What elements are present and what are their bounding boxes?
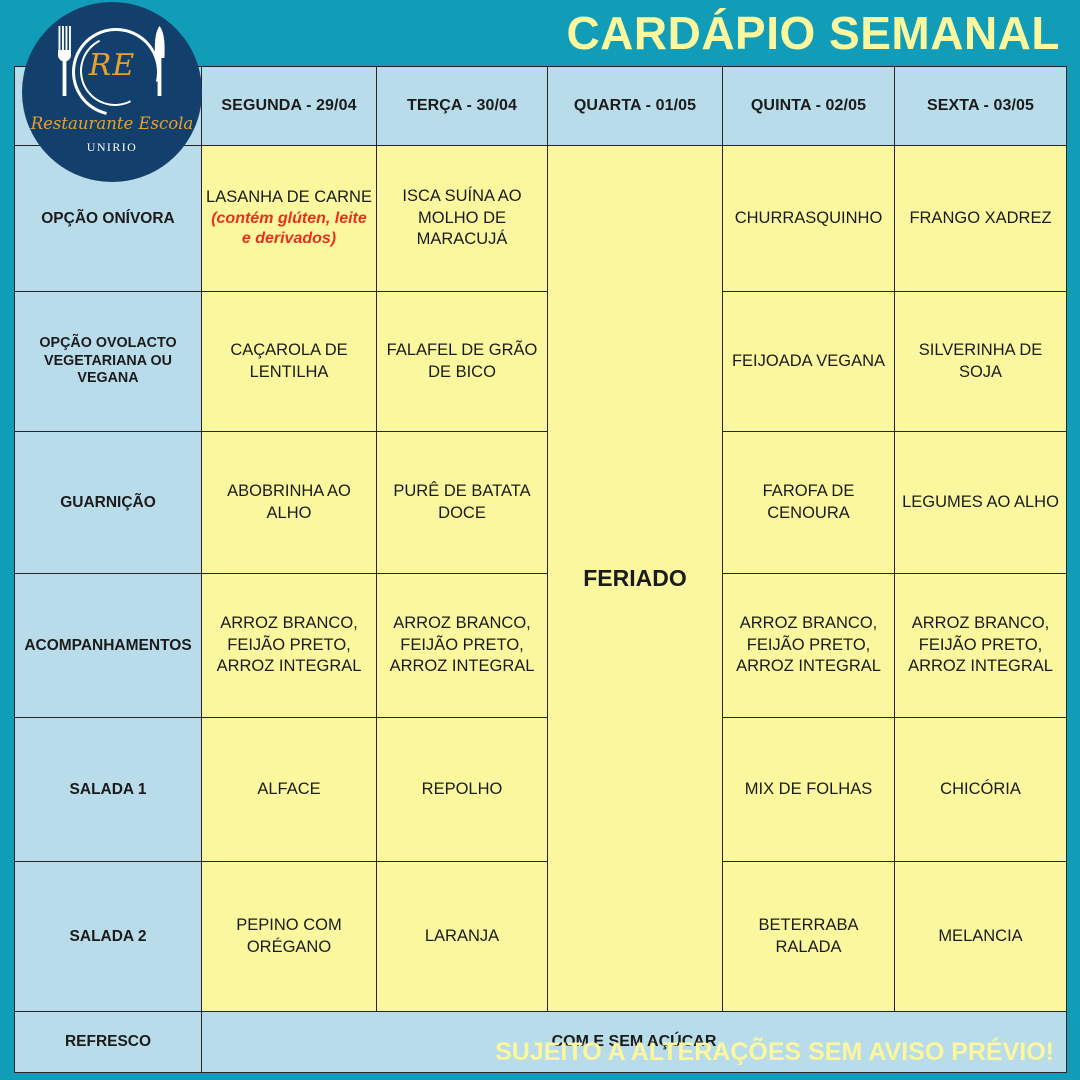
table-row: OPÇÃO ONÍVORA LASANHA DE CARNE (contém g… xyxy=(15,146,1067,292)
day-header-quinta: QUINTA - 02/05 xyxy=(723,67,895,146)
cell-salada2-terca: LARANJA xyxy=(377,862,548,1012)
cell-onivora-quinta: CHURRASQUINHO xyxy=(723,146,895,292)
cell-salada2-segunda: PEPINO COM ORÉGANO xyxy=(202,862,377,1012)
cell-salada2-quinta: BETERRABA RALADA xyxy=(723,862,895,1012)
cell-holiday-quarta: FERIADO xyxy=(548,146,723,1012)
footer-notice: SUJEITO A ALTERAÇÕES SEM AVISO PRÉVIO! xyxy=(0,1032,1080,1072)
cell-salada1-segunda: ALFACE xyxy=(202,718,377,862)
cell-vegetariana-sexta: SILVERINHA DE SOJA xyxy=(895,292,1067,432)
cell-vegetariana-terca: FALAFEL DE GRÃO DE BICO xyxy=(377,292,548,432)
day-header-sexta: SEXTA - 03/05 xyxy=(895,67,1067,146)
cell-salada1-sexta: CHICÓRIA xyxy=(895,718,1067,862)
row-label-salada-1: SALADA 1 xyxy=(15,718,202,862)
cell-guarnicao-quinta: FAROFA DE CENOURA xyxy=(723,432,895,574)
row-label-acompanhamentos: ACOMPANHAMENTOS xyxy=(15,574,202,718)
logo-institution: UNIRIO xyxy=(22,140,202,155)
page-title: CARDÁPIO SEMANAL xyxy=(460,2,1060,64)
logo-monogram: RE xyxy=(22,48,202,83)
cell-onivora-segunda: LASANHA DE CARNE (contém glúten, leite e… xyxy=(202,146,377,292)
allergen-warning: (contém glúten, leite e derivados) xyxy=(206,209,372,251)
row-label-salada-2: SALADA 2 xyxy=(15,862,202,1012)
cell-onivora-segunda-main: LASANHA DE CARNE xyxy=(206,188,372,206)
cell-salada1-quinta: MIX DE FOLHAS xyxy=(723,718,895,862)
day-header-terca: TERÇA - 30/04 xyxy=(377,67,548,146)
table-row: SALADA 1 ALFACE REPOLHO MIX DE FOLHAS CH… xyxy=(15,718,1067,862)
day-header-quarta: QUARTA - 01/05 xyxy=(548,67,723,146)
cell-onivora-terca: ISCA SUÍNA AO MOLHO DE MARACUJÁ xyxy=(377,146,548,292)
restaurante-escola-logo: RE Restaurante Escola UNIRIO xyxy=(22,2,202,182)
row-label-guarnicao: GUARNIÇÃO xyxy=(15,432,202,574)
weekly-menu-table: SEGUNDA - 29/04 TERÇA - 30/04 QUARTA - 0… xyxy=(14,66,1067,1073)
cell-acompanhamentos-terca: ARROZ BRANCO, FEIJÃO PRETO, ARROZ INTEGR… xyxy=(377,574,548,718)
cell-guarnicao-terca: PURÊ DE BATATA DOCE xyxy=(377,432,548,574)
table-row: GUARNIÇÃO ABOBRINHA AO ALHO PURÊ DE BATA… xyxy=(15,432,1067,574)
cell-acompanhamentos-segunda: ARROZ BRANCO, FEIJÃO PRETO, ARROZ INTEGR… xyxy=(202,574,377,718)
cell-vegetariana-segunda: CAÇAROLA DE LENTILHA xyxy=(202,292,377,432)
table-row: SALADA 2 PEPINO COM ORÉGANO LARANJA BETE… xyxy=(15,862,1067,1012)
cell-onivora-sexta: FRANGO XADREZ xyxy=(895,146,1067,292)
table-row: OPÇÃO OVOLACTO VEGETARIANA OU VEGANA CAÇ… xyxy=(15,292,1067,432)
cell-acompanhamentos-sexta: ARROZ BRANCO, FEIJÃO PRETO, ARROZ INTEGR… xyxy=(895,574,1067,718)
cell-salada1-terca: REPOLHO xyxy=(377,718,548,862)
logo-script-name: Restaurante Escola xyxy=(22,114,202,133)
cell-guarnicao-sexta: LEGUMES AO ALHO xyxy=(895,432,1067,574)
cell-acompanhamentos-quinta: ARROZ BRANCO, FEIJÃO PRETO, ARROZ INTEGR… xyxy=(723,574,895,718)
cell-vegetariana-quinta: FEIJOADA VEGANA xyxy=(723,292,895,432)
row-label-opcao-vegetariana: OPÇÃO OVOLACTO VEGETARIANA OU VEGANA xyxy=(15,292,202,432)
cell-guarnicao-segunda: ABOBRINHA AO ALHO xyxy=(202,432,377,574)
day-header-segunda: SEGUNDA - 29/04 xyxy=(202,67,377,146)
table-row: ACOMPANHAMENTOS ARROZ BRANCO, FEIJÃO PRE… xyxy=(15,574,1067,718)
cell-salada2-sexta: MELANCIA xyxy=(895,862,1067,1012)
